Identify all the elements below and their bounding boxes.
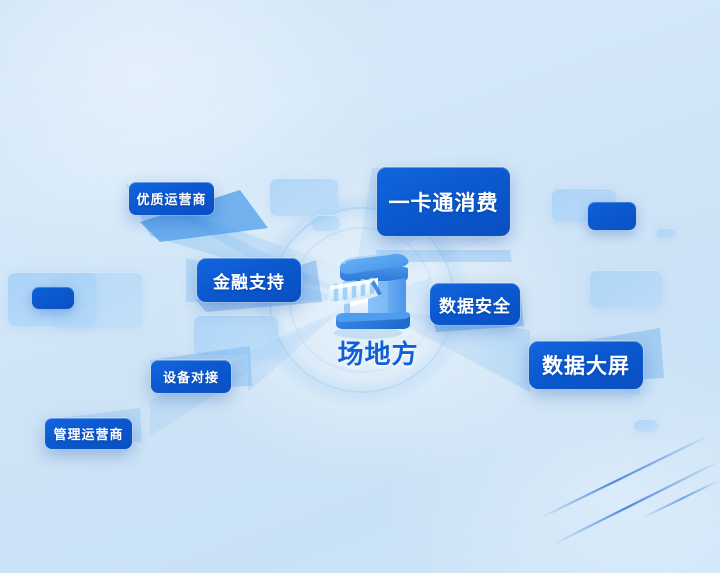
decorative-rect-solid-2 [588, 202, 636, 230]
node-chip-financial-support[interactable]: 金融支持 [197, 258, 301, 302]
decorative-rect-light-1 [194, 315, 278, 355]
node-chip-quality-operator[interactable]: 优质运营商 [129, 182, 214, 215]
decorative-rect-light-3 [312, 215, 340, 231]
node-chip-device-docking[interactable]: 设备对接 [151, 360, 231, 393]
node-chip-manage-operator[interactable]: 管理运营商 [45, 418, 132, 449]
node-chip-label: 一卡通消费 [389, 187, 499, 217]
node-chip-label: 设备对接 [163, 367, 219, 386]
ambient-glow-top-left [0, 0, 400, 280]
decorative-rect-solid-1 [32, 287, 74, 309]
node-chip-data-security[interactable]: 数据安全 [430, 283, 520, 325]
decorative-rect-light-8 [590, 270, 662, 308]
node-chip-label: 数据安全 [439, 292, 511, 317]
node-chip-label: 金融支持 [213, 268, 285, 293]
decorative-rect-light-10 [634, 419, 658, 432]
node-chip-all-in-one-card[interactable]: 一卡通消费 [377, 167, 510, 236]
storefront-icon [316, 246, 414, 340]
decorative-rect-light-7 [656, 228, 676, 238]
node-chip-data-dashboard[interactable]: 数据大屏 [529, 341, 643, 389]
node-chip-label: 数据大屏 [542, 350, 630, 380]
node-chip-label: 优质运营商 [136, 189, 206, 208]
decorative-rect-light-2 [270, 178, 338, 216]
infographic-canvas: 场地方 优质运营商 金融支持 一卡通消费 数据安全 数据大屏 设备对接 管理运营… [0, 0, 720, 573]
node-chip-label: 管理运营商 [53, 424, 123, 443]
diagonal-streak-lines [530, 423, 720, 573]
center-node-label: 场地方 [313, 334, 443, 371]
